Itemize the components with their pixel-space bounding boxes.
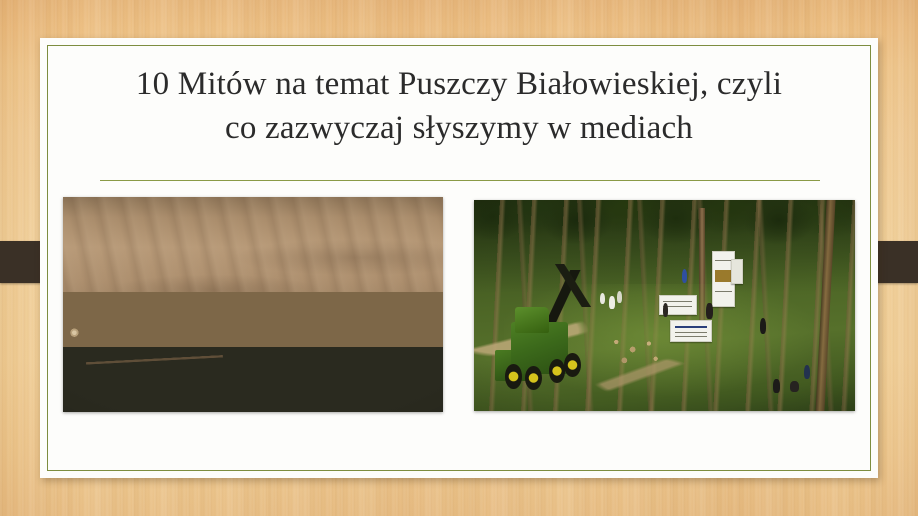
slide-title: 10 Mitów na temat Puszczy Białowieskiej,… bbox=[60, 62, 858, 150]
image-harvester-protest-clearing bbox=[474, 200, 855, 411]
image-logs-stacked-forest-road bbox=[63, 197, 443, 412]
title-divider bbox=[100, 180, 820, 181]
photo-vignette bbox=[63, 197, 443, 412]
photo-vignette bbox=[474, 200, 855, 411]
presentation-slide: 10 Mitów na temat Puszczy Białowieskiej,… bbox=[0, 0, 918, 516]
